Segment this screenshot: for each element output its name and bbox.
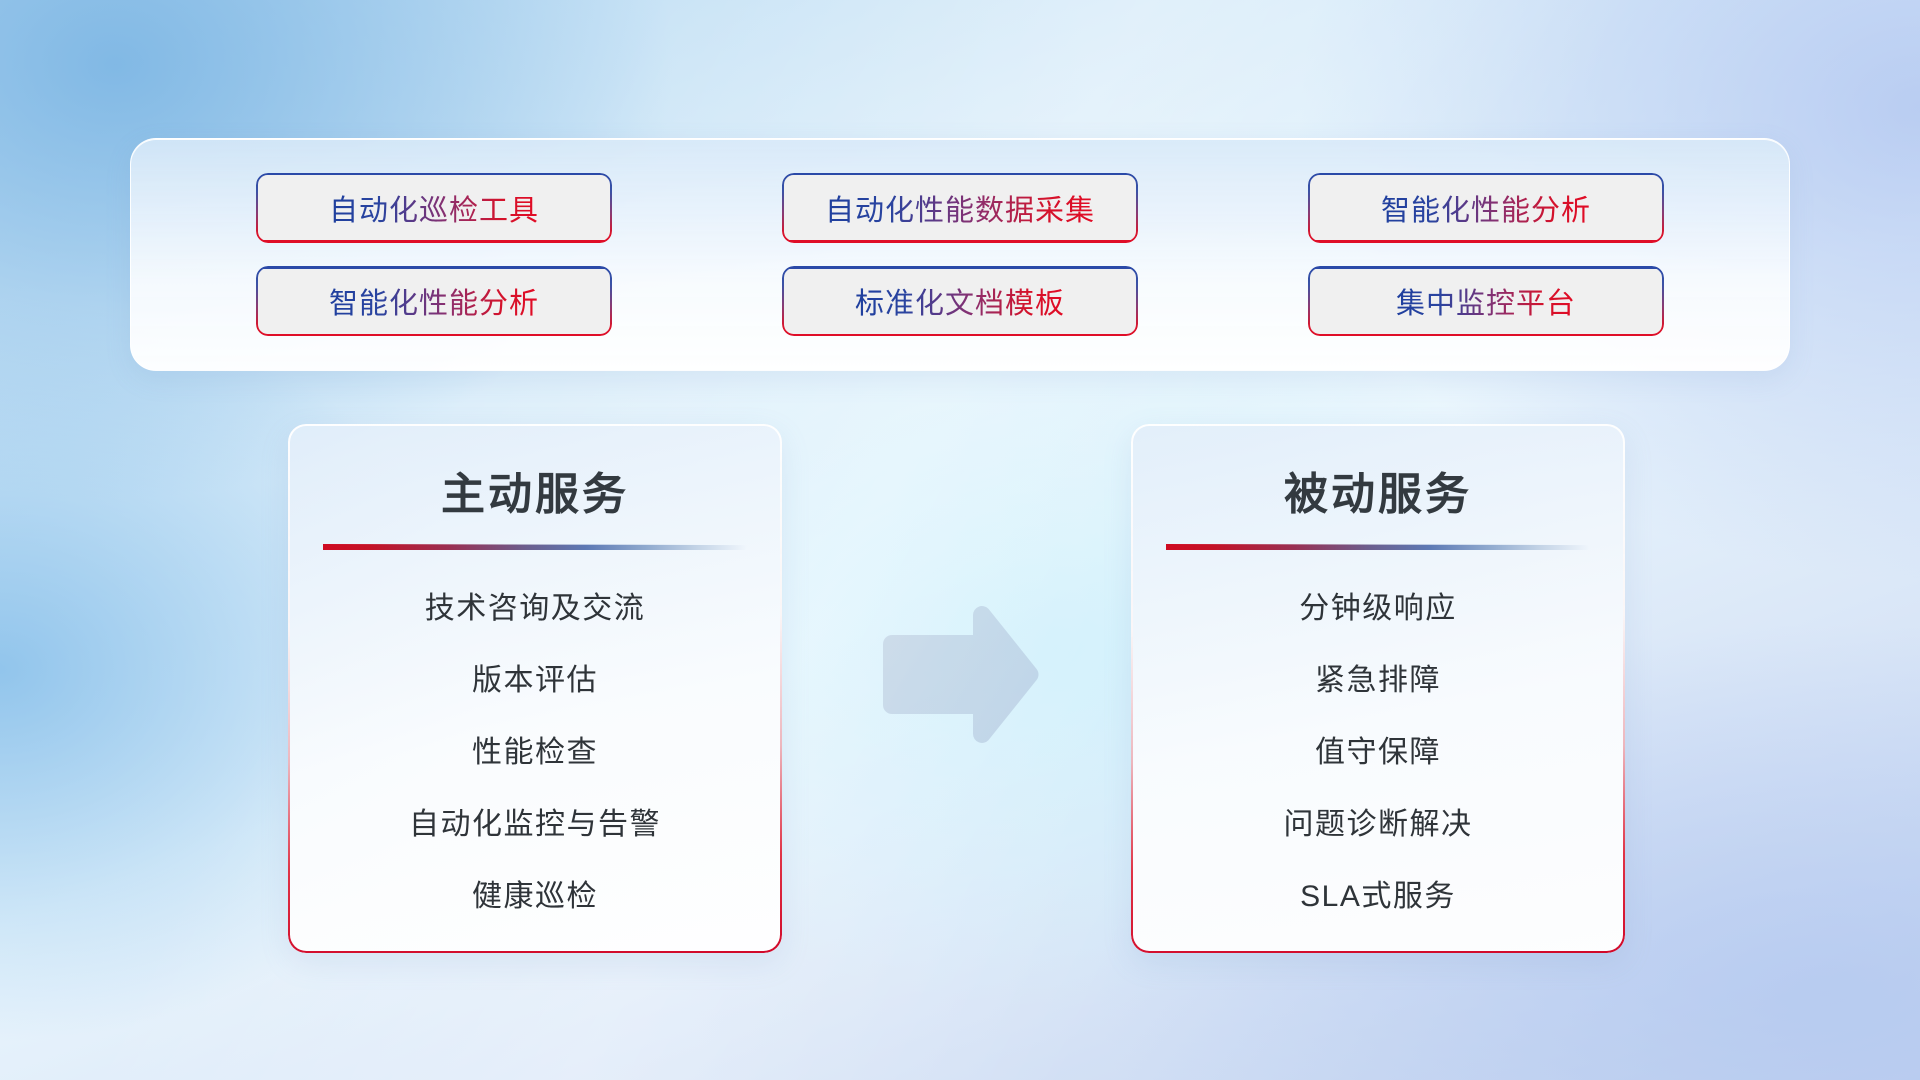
capability-pill-5[interactable]: 标准化文档模板 [782,266,1138,336]
card-title: 被动服务 [1131,424,1625,522]
list-item: 版本评估 [288,666,782,738]
list-item: 健康巡检 [288,882,782,912]
list-item: 紧急排障 [1131,666,1625,738]
capability-pill-label: 智能化性能分析 [329,280,539,322]
card-title: 主动服务 [288,424,782,522]
slide-canvas: 自动化巡检工具 自动化性能数据采集 智能化性能分析 智能化性能分析 标准化文档模… [0,0,1920,1080]
list-item: 分钟级响应 [1131,594,1625,666]
list-item: 问题诊断解决 [1131,810,1625,882]
list-item: SLA式服务 [1131,882,1625,912]
capability-pill-4[interactable]: 智能化性能分析 [256,266,612,336]
capability-pill-2[interactable]: 自动化性能数据采集 [782,173,1138,243]
proactive-service-card[interactable]: 主动服务 技术咨询及交流 版本评估 性能检查 自动化监控与告警 健康巡检 [288,424,782,953]
capability-pill-label: 自动化性能数据采集 [825,187,1095,229]
list-item: 自动化监控与告警 [288,810,782,882]
capability-pill-label: 集中监控平台 [1396,280,1576,322]
arrow-right-icon [873,602,1043,747]
capability-pill-1[interactable]: 自动化巡检工具 [256,173,612,243]
capability-pill-label: 智能化性能分析 [1381,187,1591,229]
capability-pill-label: 自动化巡检工具 [329,187,539,229]
reactive-service-card[interactable]: 被动服务 分钟级响应 紧急排障 值守保障 问题诊断解决 SLA式服务 [1131,424,1625,953]
capability-pill-6[interactable]: 集中监控平台 [1308,266,1664,336]
capability-pill-3[interactable]: 智能化性能分析 [1308,173,1664,243]
proactive-service-list: 技术咨询及交流 版本评估 性能检查 自动化监控与告警 健康巡检 [288,550,782,912]
reactive-service-list: 分钟级响应 紧急排障 值守保障 问题诊断解决 SLA式服务 [1131,550,1625,912]
capability-pill-label: 标准化文档模板 [855,280,1065,322]
list-item: 性能检查 [288,738,782,810]
list-item: 技术咨询及交流 [288,594,782,666]
list-item: 值守保障 [1131,738,1625,810]
capabilities-panel: 自动化巡检工具 自动化性能数据采集 智能化性能分析 智能化性能分析 标准化文档模… [130,138,1790,371]
